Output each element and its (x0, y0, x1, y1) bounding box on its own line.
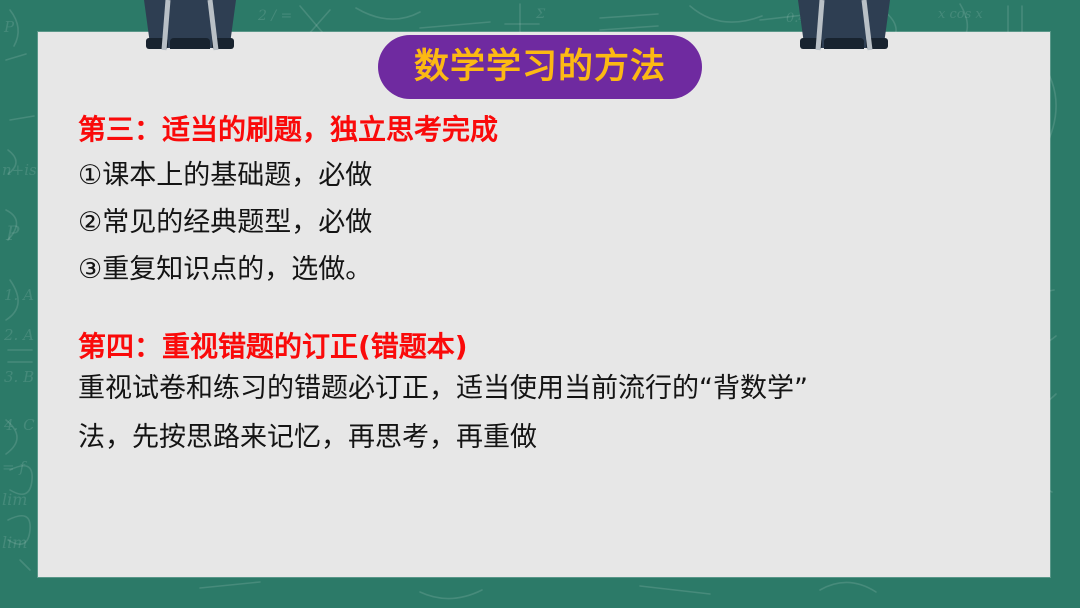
svg-text:n+is: n+is (2, 161, 37, 179)
section-heading-fourth: 第四：重视错题的订正(错题本) (78, 329, 998, 365)
binder-clip-right-icon (792, 0, 896, 52)
svg-text:lim: lim (2, 533, 27, 552)
svg-text:2. A: 2. A (3, 326, 34, 344)
slide-body: 第三：适当的刷题，独立思考完成 ①课本上的基础题，必做 ②常见的经典题型，必做 … (78, 112, 998, 473)
svg-text:P: P (3, 18, 15, 36)
svg-text:x cos x: x cos x (938, 7, 983, 22)
section-heading-third: 第三：适当的刷题，独立思考完成 (78, 112, 998, 148)
svg-text:2 / =: 2 / = (257, 8, 292, 24)
slide-root: P n+is P 1. A 2. A 3. B 4. C = f lim lim… (0, 0, 1080, 608)
binder-clip-left-icon (138, 0, 242, 52)
svg-text:= f: = f (2, 458, 27, 476)
slide-title-badge: 数学学习的方法 (378, 35, 702, 99)
svg-text:lim: lim (2, 490, 27, 509)
svg-text:4. C: 4. C (3, 416, 35, 434)
paragraph-line: 重视试卷和练习的错题必订正，适当使用当前流行的“背数学” (78, 375, 998, 402)
svg-text:3. B: 3. B (4, 368, 34, 386)
page-title: 数学学习的方法 (414, 50, 666, 85)
list-item: ③重复知识点的，选做。 (78, 256, 998, 283)
svg-text:1. A: 1. A (4, 286, 34, 304)
svg-text:Σ: Σ (535, 7, 546, 22)
list-item: ②常见的经典题型，必做 (78, 209, 998, 236)
svg-text:P: P (5, 221, 20, 245)
list-item: ①课本上的基础题，必做 (78, 162, 998, 189)
paragraph-line: 法，先按思路来记忆，再思考，再重做 (78, 424, 998, 451)
